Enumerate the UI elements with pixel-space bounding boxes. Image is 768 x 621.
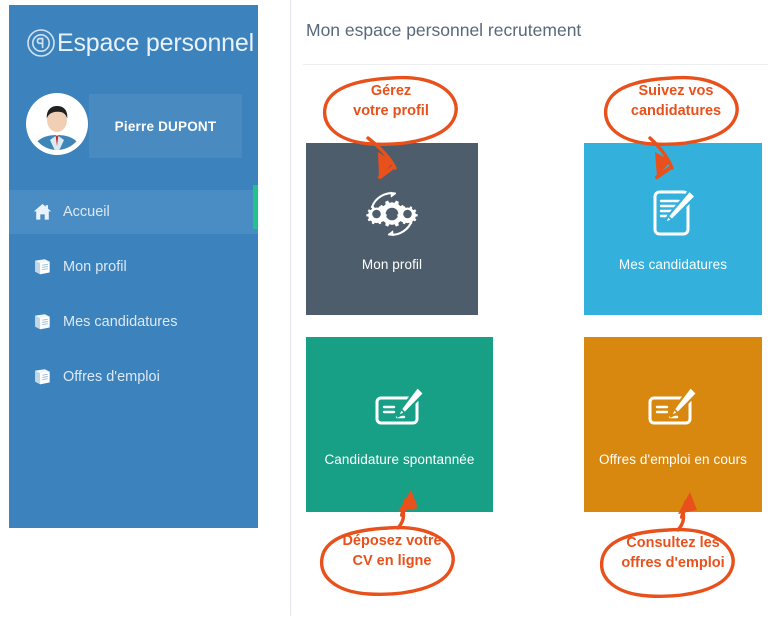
sidebar: Espace personnel Pierre DUP xyxy=(9,5,258,528)
sidebar-item-accueil[interactable]: Accueil xyxy=(9,190,258,234)
tile-offres-demploi-en-cours[interactable]: Offres d'emploi en cours xyxy=(584,337,762,512)
book-icon xyxy=(31,312,53,332)
document-pen-icon xyxy=(642,183,704,245)
active-item-accent-bar xyxy=(253,185,258,229)
home-icon xyxy=(31,202,53,222)
title-divider xyxy=(303,64,768,65)
sidebar-item-label: Mes candidatures xyxy=(63,314,177,330)
user-card: Pierre DUPONT xyxy=(26,93,242,159)
sidebar-nav: Accueil Mon profil xyxy=(9,190,258,410)
brand-title: Espace personnel xyxy=(57,29,254,58)
sidebar-item-label: Mon profil xyxy=(63,259,127,275)
page-title: Mon espace personnel recrutement xyxy=(306,20,581,41)
tile-candidature-spontannee[interactable]: Candidature spontannée xyxy=(306,337,493,512)
tile-label: Mon profil xyxy=(362,255,422,276)
card-pen-icon xyxy=(642,378,704,440)
card-pen-icon xyxy=(369,378,431,440)
tile-mes-candidatures[interactable]: Mes candidatures xyxy=(584,143,762,315)
compass-circle-icon xyxy=(26,28,56,58)
content-panel: Mon espace personnel recrutement xyxy=(290,0,768,616)
tile-label: Candidature spontannée xyxy=(324,450,474,471)
tile-label: Mes candidatures xyxy=(619,255,727,276)
book-icon xyxy=(31,257,53,277)
user-avatar-icon xyxy=(26,93,88,155)
sidebar-item-offres-demploi[interactable]: Offres d'emploi xyxy=(9,355,258,399)
tile-label: Offres d'emploi en cours xyxy=(599,450,747,471)
user-name: Pierre DUPONT xyxy=(89,94,242,158)
sidebar-item-label: Accueil xyxy=(63,204,110,220)
gears-settings-icon xyxy=(361,183,423,245)
sidebar-item-mon-profil[interactable]: Mon profil xyxy=(9,245,258,289)
tile-mon-profil[interactable]: Mon profil xyxy=(306,143,478,315)
brand: Espace personnel xyxy=(9,19,258,67)
sidebar-item-label: Offres d'emploi xyxy=(63,369,160,385)
sidebar-item-mes-candidatures[interactable]: Mes candidatures xyxy=(9,300,258,344)
book-icon xyxy=(31,367,53,387)
